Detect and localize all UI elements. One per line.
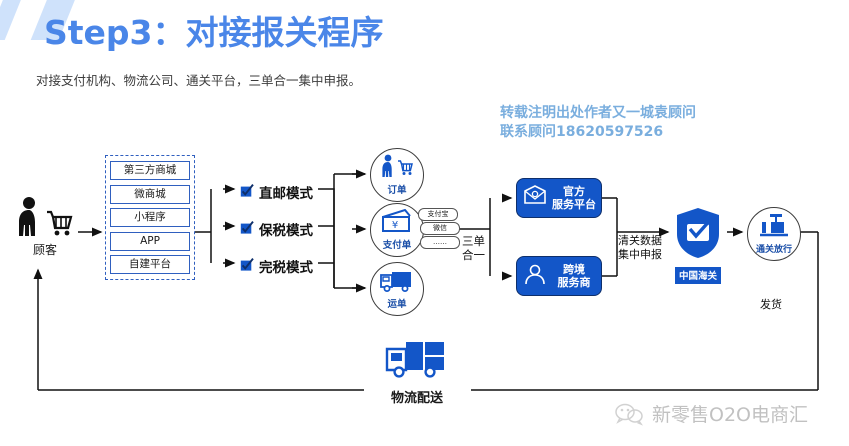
platform-item-mini-program[interactable]: 小程序	[110, 208, 190, 227]
watermark-line-2: 联系顾问18620597526	[500, 123, 696, 142]
page-subtitle: 对接支付机构、物流公司、通关平台，三单合一集中申报。	[36, 70, 361, 89]
platform-group: 第三方商城 微商城 小程序 APP 自建平台	[105, 155, 195, 280]
mode-label: 完税模式	[259, 256, 313, 276]
document-order-node[interactable]: 订单	[370, 148, 424, 202]
shield-check-icon	[674, 245, 722, 264]
order-cart-icon	[380, 154, 414, 183]
document-label: 运单	[387, 296, 406, 310]
customer-label: 顾客	[12, 241, 78, 258]
brand-watermark: 新零售O2O电商汇	[614, 400, 808, 427]
customs-note-line-1: 清关数据	[618, 234, 662, 248]
platform-item-wechat-mall[interactable]: 微商城	[110, 185, 190, 204]
customer-node: 顾客	[12, 196, 78, 258]
page-title: Step3：对接报关程序	[44, 6, 384, 54]
merge-label-line-1: 三单	[462, 234, 485, 248]
service-label: 官方 服务平台	[552, 185, 596, 211]
merge-three-docs-label: 三单 合一	[462, 234, 485, 262]
service-label-line-2: 服务商	[558, 276, 591, 289]
platform-item-self-built[interactable]: 自建平台	[110, 255, 190, 274]
truck-icon	[379, 269, 415, 297]
wechat-logo-icon	[614, 402, 644, 426]
customs-note-line-2: 集中申报	[618, 248, 662, 262]
logistics-label: 物流配送	[385, 387, 449, 406]
watermark-text: 转载注明出处作者又一城袁顾问 联系顾问18620597526	[500, 104, 696, 142]
check-square-icon	[240, 183, 254, 202]
mode-direct-mail[interactable]: 直邮模式	[240, 182, 313, 202]
service-agent-icon	[522, 261, 548, 291]
official-platform-icon	[522, 183, 548, 213]
service-cross-border-provider[interactable]: 跨境 服务商	[516, 256, 602, 296]
customs-stamp-icon	[758, 213, 790, 243]
service-label-line-1: 跨境	[563, 263, 585, 276]
service-label: 跨境 服务商	[552, 263, 596, 289]
check-square-icon	[240, 257, 254, 276]
pay-channel-more: ……	[420, 236, 460, 249]
mode-bonded[interactable]: 保税模式	[240, 219, 313, 239]
delivery-truck-icon	[384, 366, 450, 385]
mode-duty-paid[interactable]: 完税模式	[240, 256, 313, 276]
customs-release-label: 通关放行	[756, 242, 792, 255]
merge-label-line-2: 合一	[462, 248, 485, 262]
shipping-label: 发货	[760, 296, 782, 312]
platform-item-app[interactable]: APP	[110, 232, 190, 251]
customs-declaration-note: 清关数据 集中申报	[618, 234, 662, 262]
watermark-line-1: 转载注明出处作者又一城袁顾问	[500, 104, 696, 123]
slide-canvas: Step3：对接报关程序 对接支付机构、物流公司、通关平台，三单合一集中申报。 …	[0, 0, 849, 446]
document-payment-node[interactable]: ¥ 支付单	[370, 203, 424, 257]
china-customs-badge: 中国海关	[675, 267, 721, 284]
service-label-line-1: 官方	[563, 185, 585, 198]
pay-channel-alipay: 支付宝	[418, 208, 458, 221]
svg-text:¥: ¥	[392, 220, 398, 231]
payment-wallet-icon: ¥	[379, 209, 415, 238]
platform-item-third-party[interactable]: 第三方商城	[110, 161, 190, 180]
document-label: 订单	[387, 182, 406, 196]
logistics-node: 物流配送	[367, 337, 467, 406]
china-customs-node: 中国海关	[672, 206, 724, 284]
document-waybill-node[interactable]: 运单	[370, 262, 424, 316]
service-label-line-2: 服务平台	[552, 198, 596, 211]
mode-label: 直邮模式	[259, 182, 313, 202]
brand-name: 新零售O2O电商汇	[652, 400, 808, 427]
customs-release-node[interactable]: 通关放行	[747, 207, 801, 261]
service-official-platform[interactable]: 官方 服务平台	[516, 178, 602, 218]
check-square-icon	[240, 220, 254, 239]
customer-shopping-cart-icon	[12, 196, 78, 240]
mode-label: 保税模式	[259, 219, 313, 239]
pay-channel-wechat: 微信	[420, 222, 460, 235]
document-label: 支付单	[383, 237, 412, 251]
